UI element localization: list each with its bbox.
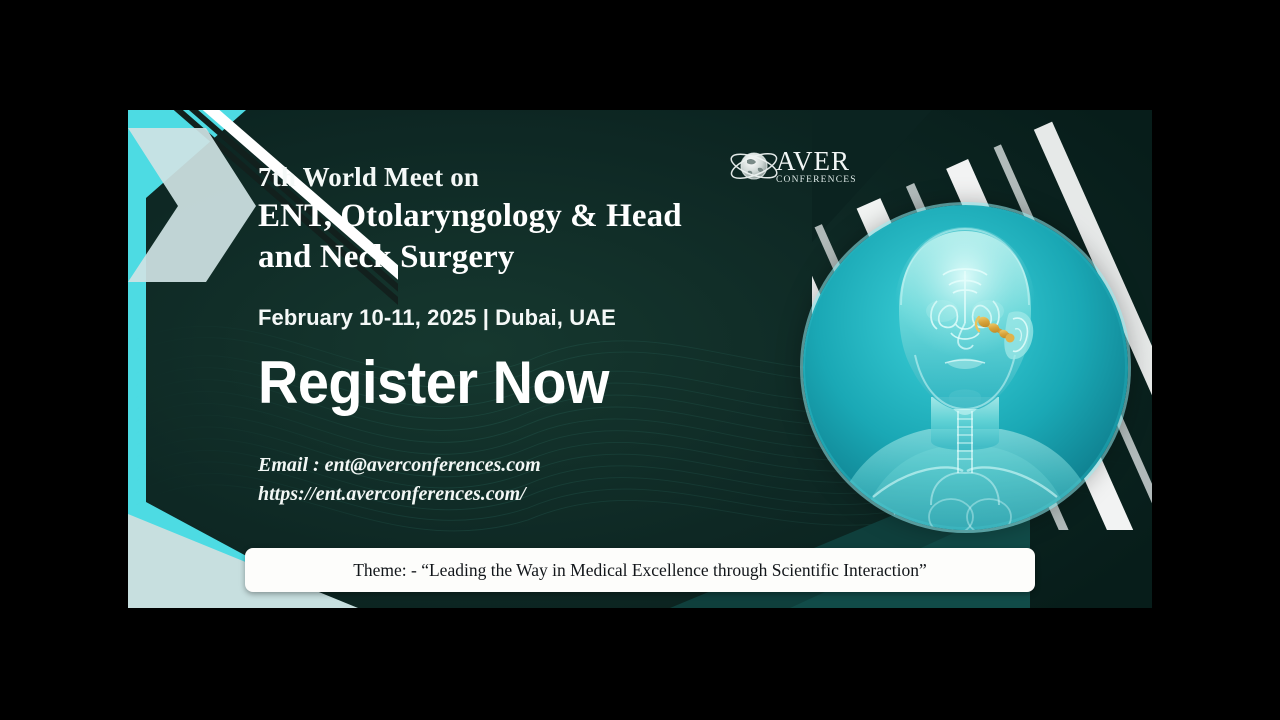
eyebrow-text: 7th World Meet on	[258, 162, 818, 193]
contact-block: Email : ent@averconferences.com https://…	[258, 451, 818, 509]
email-line[interactable]: Email : ent@averconferences.com	[258, 451, 818, 480]
date-venue-text: February 10-11, 2025 | Dubai, UAE	[258, 305, 818, 331]
register-now-cta[interactable]: Register Now	[258, 353, 779, 413]
website-line[interactable]: https://ent.averconferences.com/	[258, 480, 818, 509]
title-line-2: and Neck Surgery	[258, 236, 818, 279]
theme-bar: Theme: - “Leading the Way in Medical Exc…	[245, 548, 1035, 592]
screenshot-stage: AVER CONFERENCES 7th World Meet on ENT, …	[0, 0, 1280, 720]
theme-text: Theme: - “Leading the Way in Medical Exc…	[353, 560, 927, 581]
ent-anatomy-illustration	[803, 205, 1128, 530]
title-line-1: ENT, Otolaryngology & Head	[258, 195, 818, 238]
banner-text-content: 7th World Meet on ENT, Otolaryngology & …	[258, 162, 818, 509]
conference-banner: AVER CONFERENCES 7th World Meet on ENT, …	[128, 110, 1152, 608]
